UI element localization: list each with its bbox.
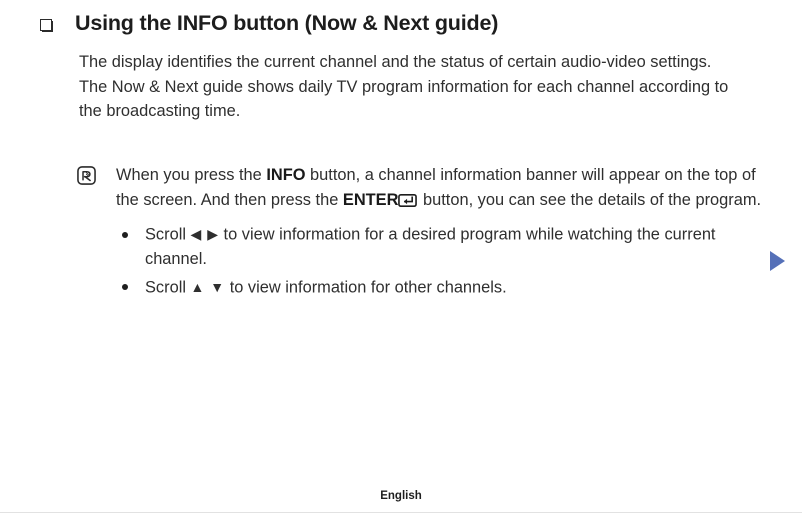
note-body: When you press the INFO button, a channe… xyxy=(116,163,767,303)
section-heading: Using the INFO button (Now & Next guide) xyxy=(40,10,740,37)
scroll-instructions-list: Scroll ◀ ▶ to view information for a des… xyxy=(116,222,767,300)
note-text-part-1: When you press the xyxy=(116,166,266,184)
footer-divider xyxy=(0,512,802,513)
bullet-suffix: to view information for a desired progra… xyxy=(145,226,716,269)
paragraph-2: The Now & Next guide shows daily TV prog… xyxy=(79,75,751,124)
note-text-part-3: button, you can see the details of the p… xyxy=(418,191,761,209)
enter-return-key-icon xyxy=(398,191,417,206)
info-button-label: INFO xyxy=(266,166,305,184)
up-down-arrow-icon: ▲ ▼ xyxy=(191,279,226,295)
bullet-prefix: Scroll xyxy=(145,226,191,244)
left-right-arrow-icon: ◀ ▶ xyxy=(191,226,219,242)
paragraph-1: The display identifies the current chann… xyxy=(79,50,751,75)
page-title: Using the INFO button (Now & Next guide) xyxy=(75,10,498,37)
square-bullet-icon xyxy=(40,19,54,33)
bullet-prefix: Scroll xyxy=(145,278,191,296)
list-item: Scroll ◀ ▶ to view information for a des… xyxy=(116,222,767,272)
note-paragraph: When you press the INFO button, a channe… xyxy=(116,163,767,212)
bullet-suffix: to view information for other channels. xyxy=(225,278,507,296)
note-callout: When you press the INFO button, a channe… xyxy=(77,163,767,303)
next-page-arrow-icon[interactable] xyxy=(770,251,785,271)
list-item: Scroll ▲ ▼ to view information for other… xyxy=(116,275,767,300)
footer-language-label: English xyxy=(0,490,802,502)
page-footer: English xyxy=(0,490,802,525)
intro-paragraphs: The display identifies the current chann… xyxy=(79,50,751,124)
manual-page: Using the INFO button (Now & Next guide)… xyxy=(0,0,802,525)
note-pencil-icon xyxy=(77,166,96,185)
enter-button-label: ENTER xyxy=(343,191,399,209)
